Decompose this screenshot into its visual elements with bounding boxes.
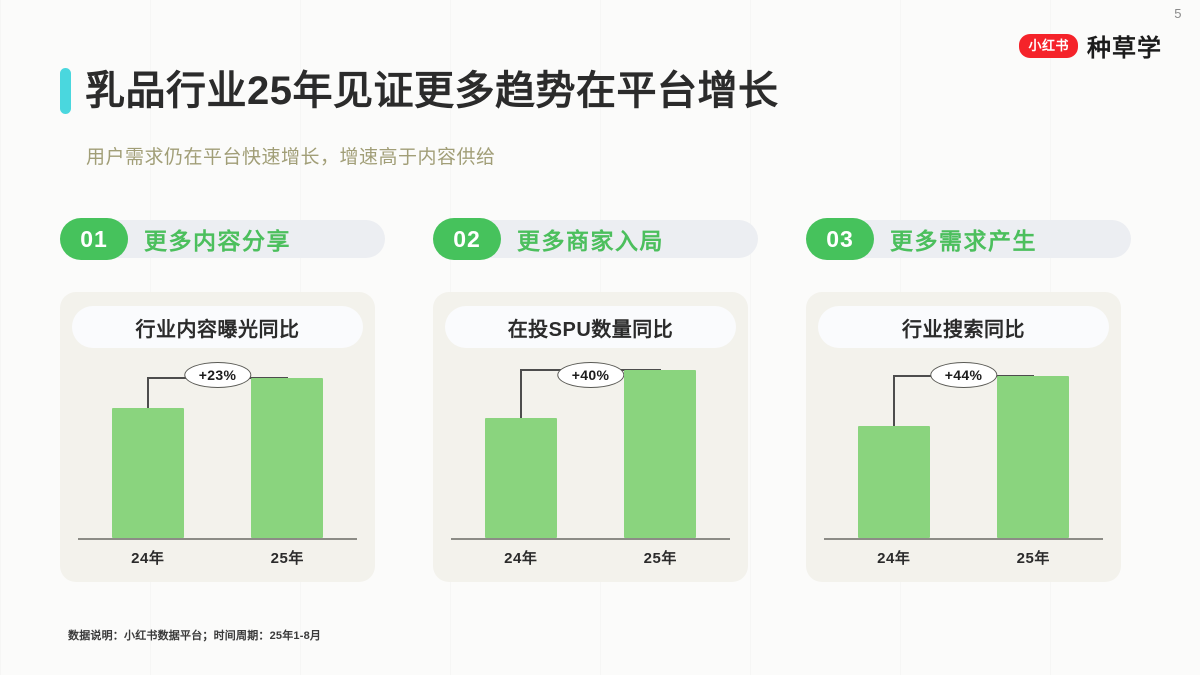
bar-slot-25 xyxy=(218,390,358,538)
bar-slot-25 xyxy=(964,390,1104,538)
chart-title-01: 行业内容曝光同比 xyxy=(72,306,363,348)
chart-plot-02: +40% 24年 25年 xyxy=(451,356,730,570)
x-label-24: 24年 xyxy=(78,547,218,568)
column-03: 03 更多需求产生 行业搜索同比 +44% xyxy=(806,218,1141,582)
section-head-03: 03 更多需求产生 xyxy=(806,218,1141,260)
bar-slot-24 xyxy=(451,390,591,538)
footnote: 数据说明：小红书数据平台；时间周期：25年1-8月 xyxy=(68,627,321,643)
column-01: 01 更多内容分享 行业内容曝光同比 +23% xyxy=(60,218,395,582)
page-title-row: 乳品行业25年见证更多趋势在平台增长 xyxy=(60,68,779,114)
x-label-25: 25年 xyxy=(218,547,358,568)
chart-card-01: 行业内容曝光同比 +23% xyxy=(60,292,375,582)
bar-25 xyxy=(624,370,696,538)
page-subtitle: 用户需求仍在平台快速增长，增速高于内容供给 xyxy=(86,142,496,169)
page-number: 5 xyxy=(1174,6,1182,21)
x-axis-labels-01: 24年 25年 xyxy=(78,547,357,568)
bar-slot-24 xyxy=(824,390,964,538)
section-label-02: 更多商家入局 xyxy=(517,222,664,256)
bar-24 xyxy=(858,426,930,538)
x-axis-line-03 xyxy=(824,538,1103,540)
page-title: 乳品行业25年见证更多趋势在平台增长 xyxy=(85,71,779,111)
section-number-02: 02 xyxy=(433,218,501,260)
section-number-01: 01 xyxy=(60,218,128,260)
growth-value-03: +44% xyxy=(930,362,997,388)
bar-group-01 xyxy=(78,390,357,538)
bar-group-03 xyxy=(824,390,1103,538)
x-axis-line-01 xyxy=(78,538,357,540)
x-axis-labels-03: 24年 25年 xyxy=(824,547,1103,568)
chart-plot-03: +44% 24年 25年 xyxy=(824,356,1103,570)
section-number-03: 03 xyxy=(806,218,874,260)
section-label-03: 更多需求产生 xyxy=(890,222,1037,256)
x-label-24: 24年 xyxy=(451,547,591,568)
xiaohongshu-logo-icon: 小红书 xyxy=(1019,34,1078,58)
growth-value-01: +23% xyxy=(184,362,251,388)
bar-25 xyxy=(251,378,323,538)
chart-card-02: 在投SPU数量同比 +40% xyxy=(433,292,748,582)
columns-container: 01 更多内容分享 行业内容曝光同比 +23% xyxy=(60,218,1140,582)
chart-title-02: 在投SPU数量同比 xyxy=(445,306,736,348)
x-axis-labels-02: 24年 25年 xyxy=(451,547,730,568)
slide-canvas: 5 小红书 种草学 乳品行业25年见证更多趋势在平台增长 用户需求仍在平台快速增… xyxy=(0,0,1200,675)
growth-value-02: +40% xyxy=(557,362,624,388)
bar-slot-24 xyxy=(78,390,218,538)
section-head-02: 02 更多商家入局 xyxy=(433,218,768,260)
chart-title-03: 行业搜索同比 xyxy=(818,306,1109,348)
title-accent-bar xyxy=(60,68,71,114)
bar-slot-25 xyxy=(591,390,731,538)
x-axis-line-02 xyxy=(451,538,730,540)
section-head-01: 01 更多内容分享 xyxy=(60,218,395,260)
brand-lockup: 小红书 种草学 xyxy=(1019,28,1162,63)
x-label-24: 24年 xyxy=(824,547,964,568)
chart-card-03: 行业搜索同比 +44% xyxy=(806,292,1121,582)
bar-group-02 xyxy=(451,390,730,538)
column-02: 02 更多商家入局 在投SPU数量同比 +40% xyxy=(433,218,768,582)
brand-name: 种草学 xyxy=(1087,28,1162,63)
bar-25 xyxy=(997,376,1069,538)
chart-plot-01: +23% 24年 25年 xyxy=(78,356,357,570)
x-label-25: 25年 xyxy=(964,547,1104,568)
x-label-25: 25年 xyxy=(591,547,731,568)
bar-24 xyxy=(485,418,557,538)
section-label-01: 更多内容分享 xyxy=(144,222,291,256)
bar-24 xyxy=(112,408,184,538)
